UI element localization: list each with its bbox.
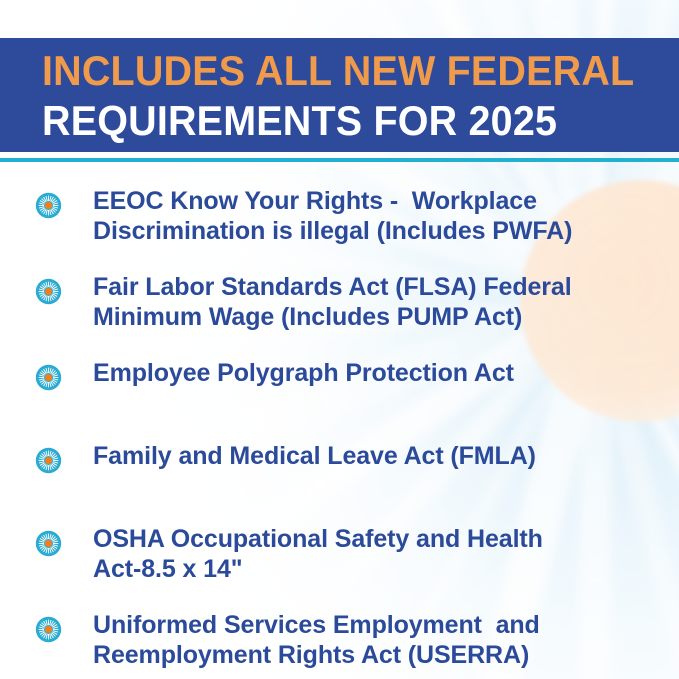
requirement-item: Family and Medical Leave Act (FMLA) — [0, 441, 679, 487]
requirement-label: Family and Medical Leave Act (FMLA) — [93, 441, 663, 471]
requirement-item: EEOC Know Your Rights - Workplace Discri… — [0, 186, 679, 246]
requirement-item: Fair Labor Standards Act (FLSA) Federal … — [0, 272, 679, 332]
banner-divider-rule — [0, 158, 679, 162]
sunburst-icon — [35, 364, 62, 391]
banner-headline-primary: INCLUDES ALL NEW FEDERAL — [42, 46, 641, 96]
poster-graphic: INCLUDES ALL NEW FEDERAL REQUIREMENTS FO… — [0, 0, 679, 679]
requirement-item: Uniformed Services Employment and Reempl… — [0, 610, 679, 670]
sunburst-icon — [35, 278, 62, 305]
requirement-item: OSHA Occupational Safety and Health Act-… — [0, 524, 679, 584]
sunburst-icon — [35, 192, 62, 219]
sunburst-icon — [35, 530, 62, 557]
requirement-label: Fair Labor Standards Act (FLSA) Federal … — [93, 272, 663, 332]
sunburst-icon — [35, 616, 62, 643]
requirement-label: Employee Polygraph Protection Act — [93, 358, 663, 388]
header-banner: INCLUDES ALL NEW FEDERAL REQUIREMENTS FO… — [0, 38, 679, 152]
requirements-list: EEOC Know Your Rights - Workplace Discri… — [0, 186, 679, 679]
requirement-label: Uniformed Services Employment and Reempl… — [93, 610, 663, 670]
requirement-label: OSHA Occupational Safety and Health Act-… — [93, 524, 663, 584]
requirement-item: Employee Polygraph Protection Act — [0, 358, 679, 404]
sunburst-icon — [35, 447, 62, 474]
banner-headline-secondary: REQUIREMENTS FOR 2025 — [42, 96, 641, 146]
requirement-label: EEOC Know Your Rights - Workplace Discri… — [93, 186, 663, 246]
